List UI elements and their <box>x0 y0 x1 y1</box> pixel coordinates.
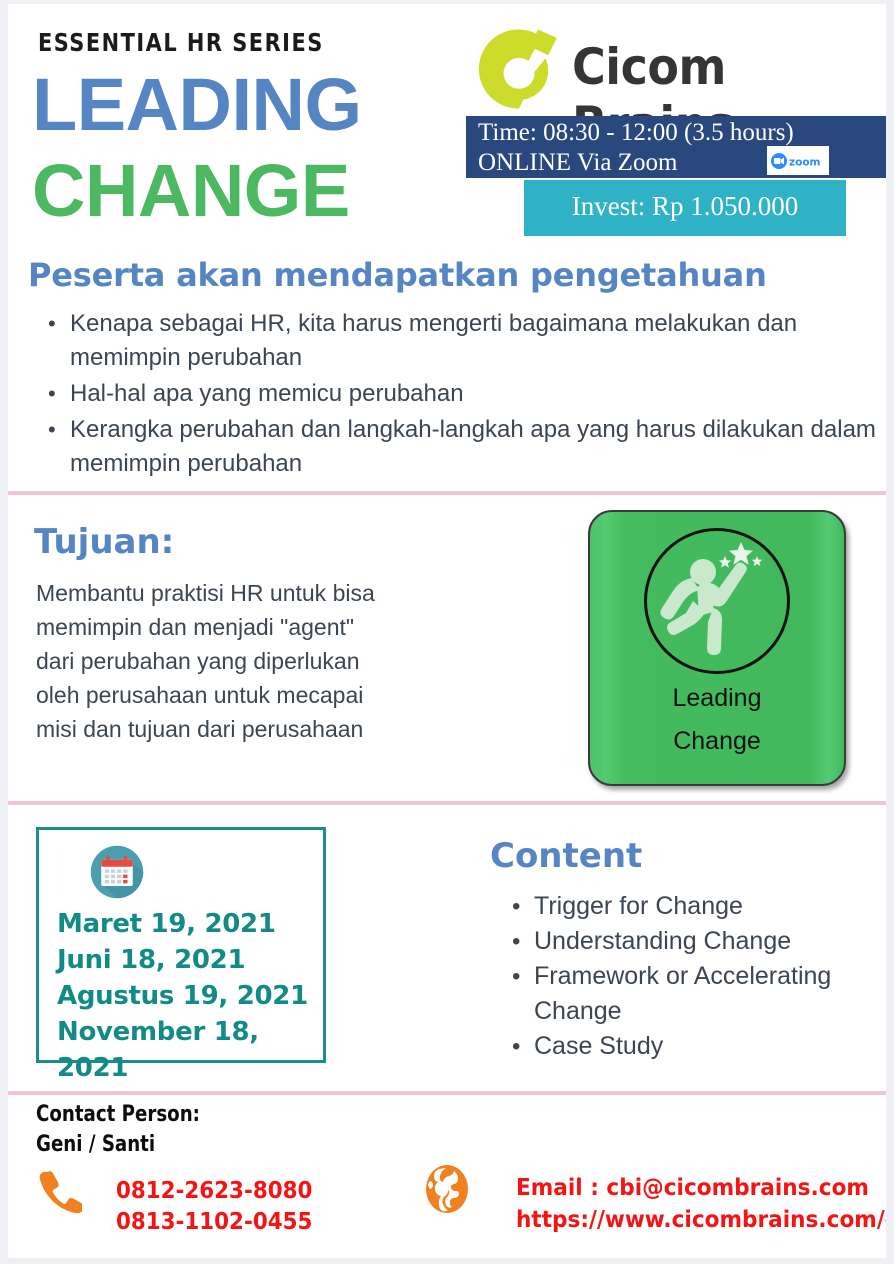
list-item: Case Study <box>534 1029 894 1064</box>
section-divider-1 <box>8 491 886 495</box>
contact-person-names: Geni / Santi <box>36 1132 155 1157</box>
tile-label-line1: Leading <box>590 684 844 713</box>
list-item: Kenapa sebagai HR, kita harus mengerti b… <box>70 307 894 375</box>
flyer-page: ESSENTIAL HR SERIES LEADING CHANGE Cicom… <box>0 0 894 1264</box>
tile-label-line2: Change <box>590 727 844 756</box>
invest-box: Invest: Rp 1.050.000 <box>524 180 846 236</box>
website-link[interactable]: https://www.cicombrains.com/cbi <box>516 1204 894 1236</box>
content-heading: Content <box>490 836 642 876</box>
list-item: Understanding Change <box>534 924 894 959</box>
page-title-line2: CHANGE <box>32 154 350 228</box>
phone-icon <box>36 1168 82 1214</box>
zoom-icon: zoom <box>769 151 827 171</box>
running-person-reaching-stars-icon <box>647 528 787 668</box>
dates-list: Maret 19, 2021 Juni 18, 2021 Agustus 19,… <box>57 906 317 1086</box>
cicom-c-mark-icon <box>476 26 562 112</box>
list-item: Maret 19, 2021 <box>57 906 317 942</box>
section-divider-2 <box>8 801 886 805</box>
list-item: Trigger for Change <box>534 889 894 924</box>
list-item: Agustus 19, 2021 <box>57 978 317 1014</box>
tujuan-body: Membantu praktisi HR untuk bisa memimpin… <box>36 576 386 746</box>
svg-text:zoom: zoom <box>789 156 821 168</box>
list-item: Juni 18, 2021 <box>57 942 317 978</box>
tujuan-heading: Tujuan: <box>34 522 174 562</box>
time-info-box: Time: 08:30 - 12:00 (3.5 hours) ONLINE V… <box>466 116 886 178</box>
flyer-inner: ESSENTIAL HR SERIES LEADING CHANGE Cicom… <box>8 4 886 1258</box>
list-item: Kerangka perubahan dan langkah-langkah a… <box>70 413 894 481</box>
zoom-logo-badge: zoom <box>767 146 829 175</box>
peserta-heading: Peserta akan mendapatkan pengetahuan <box>28 256 767 294</box>
phone-number-1[interactable]: 0812-2623-8080 <box>116 1176 312 1207</box>
contact-person-label: Contact Person: <box>36 1102 200 1127</box>
peserta-list: Kenapa sebagai HR, kita harus mengerti b… <box>38 307 894 483</box>
web-contact-links: Email : cbi@cicombrains.com https://www.… <box>516 1172 894 1236</box>
page-title-line1: LEADING <box>32 68 362 142</box>
phone-number-2[interactable]: 0813-1102-0455 <box>116 1207 312 1238</box>
series-eyebrow: ESSENTIAL HR SERIES <box>38 28 324 57</box>
time-line: Time: 08:30 - 12:00 (3.5 hours) <box>478 118 886 148</box>
leading-change-tile: Leading Change <box>588 510 846 786</box>
section-divider-3 <box>8 1091 886 1095</box>
phone-numbers: 0812-2623-8080 0813-1102-0455 <box>116 1176 327 1238</box>
list-item: Framework or Accelerating Change <box>534 959 894 1029</box>
email-link[interactable]: Email : cbi@cicombrains.com <box>516 1172 894 1204</box>
list-item: Hal-hal apa yang memicu perubahan <box>70 377 894 411</box>
globe-icon <box>423 1164 471 1214</box>
list-item: November 18, 2021 <box>57 1014 317 1086</box>
content-list: Trigger for Change Understanding Change … <box>506 889 894 1064</box>
brand-logo: Cicom Brains <box>476 18 876 118</box>
calendar-icon <box>89 844 145 900</box>
schedule-dates-box: Maret 19, 2021 Juni 18, 2021 Agustus 19,… <box>36 827 326 1063</box>
